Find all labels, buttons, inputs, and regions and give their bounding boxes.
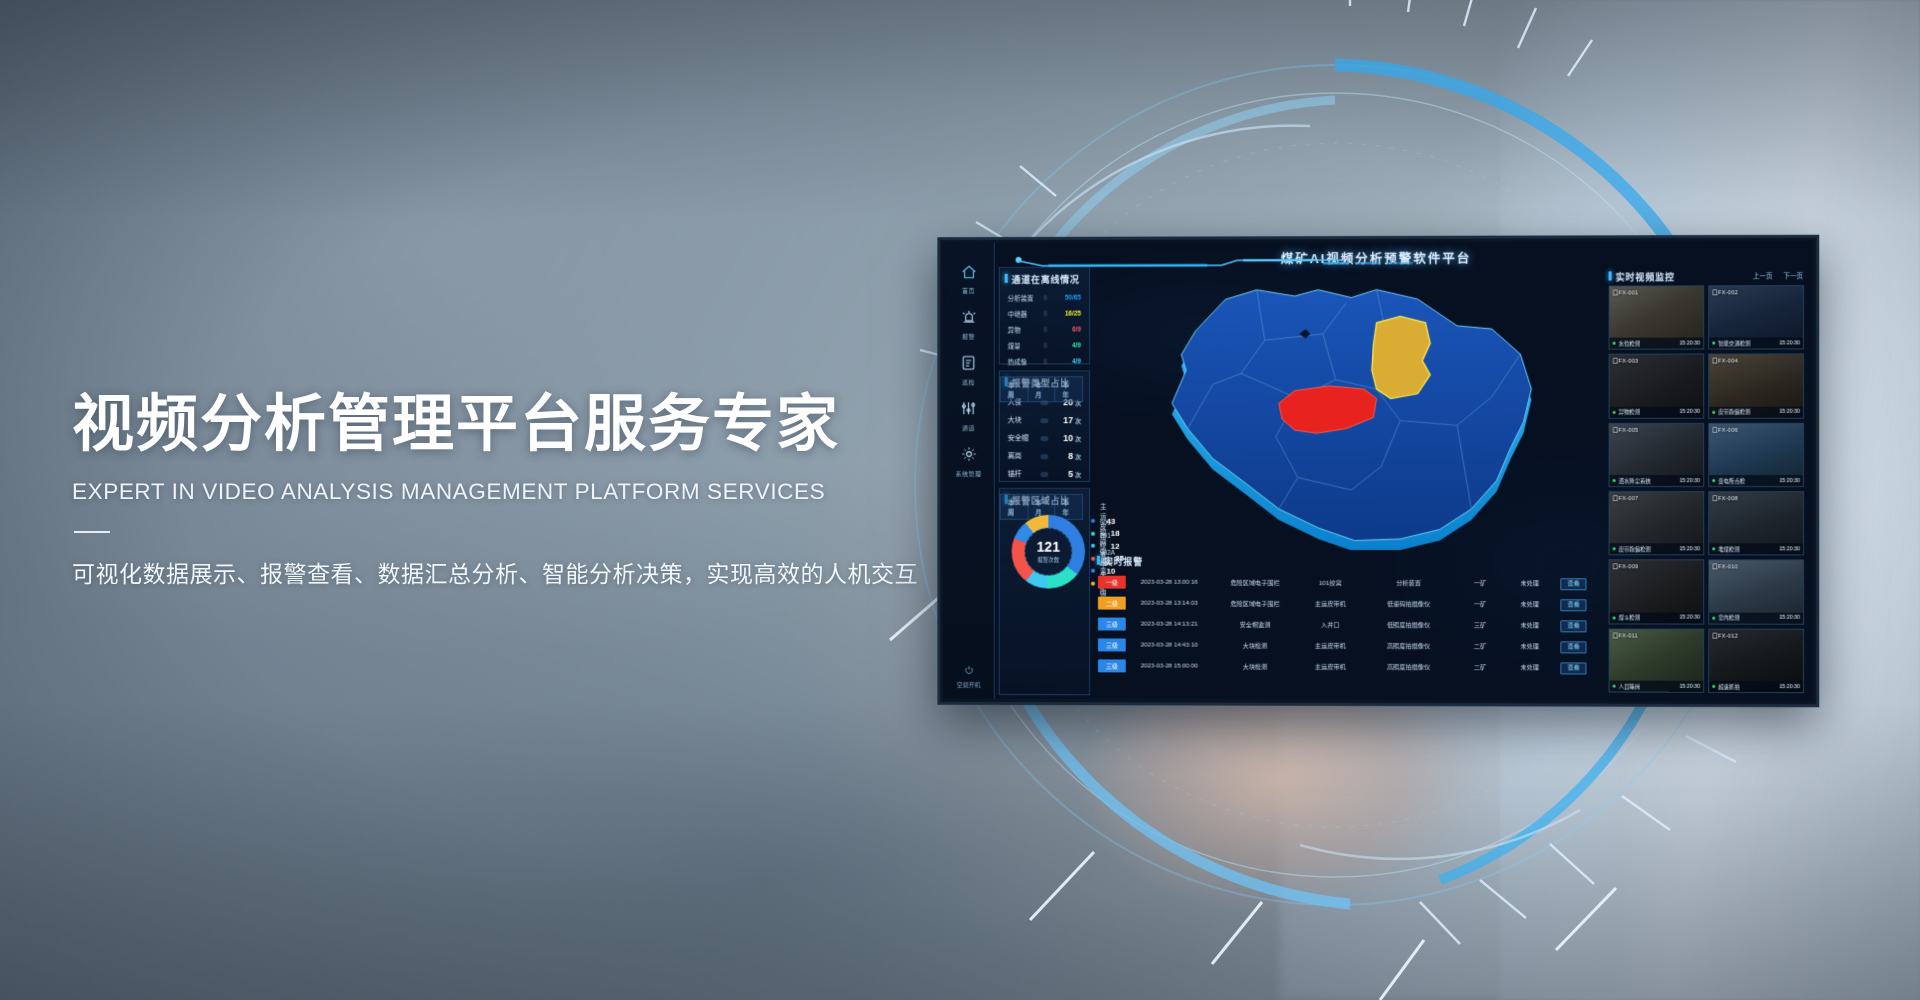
alarm-area-panel: 报警区域占比 本周 本月 本年 121 报警次数 主运皮带43901绞网1820… bbox=[999, 488, 1090, 695]
channel-value: 4/9 bbox=[1053, 342, 1081, 349]
alarm-type-panel: 报警类型占比 本周 本月 本年 入侵20次大块17次安全帽10次离岗8次锚杆5次 bbox=[999, 370, 1090, 482]
video-grid: 口FX-001水位检测15:20:30口FX-002智能交通检测15:20:30… bbox=[1609, 285, 1804, 693]
sidebar-label-channel: 通道 bbox=[943, 423, 994, 432]
alarm-type-label: 安全帽 bbox=[1008, 433, 1034, 443]
video-id: 口FX-001 bbox=[1613, 288, 1639, 296]
alarm-type-tabs[interactable]: 本周 本月 本年 bbox=[1000, 376, 1083, 402]
video-id: 口FX-002 bbox=[1712, 288, 1738, 296]
alarm-state: 未处理 bbox=[1506, 641, 1554, 650]
alarm-time: 2023-03-28 13:00:16 bbox=[1126, 579, 1213, 586]
channel-label: 异物 bbox=[1008, 325, 1038, 335]
hero-divider bbox=[74, 531, 110, 533]
map-svg bbox=[1092, 265, 1600, 550]
status-dot bbox=[1613, 342, 1616, 345]
status-dot bbox=[1712, 616, 1715, 619]
video-name: 皮带跑偏检测 bbox=[1619, 545, 1680, 553]
video-time: 15:20:30 bbox=[1779, 683, 1800, 689]
channel-status-panel: 通道在离线情况 分析装置50/65中继器16/25异物6/9煤量4/9热成像4/… bbox=[999, 267, 1090, 365]
channel-label: 煤量 bbox=[1008, 341, 1038, 351]
alarm-mine: 三矿 bbox=[1454, 620, 1506, 629]
video-id: 口FX-003 bbox=[1613, 357, 1639, 365]
video-name: 人员睡岗 bbox=[1619, 682, 1680, 690]
alarm-type-title: 报警类型占比 本周 本月 本年 bbox=[1000, 371, 1089, 393]
channel-label: 中继器 bbox=[1008, 309, 1038, 319]
alarm-type: 大块检测 bbox=[1213, 641, 1298, 650]
tab-year[interactable]: 本年 bbox=[1055, 376, 1083, 402]
sidebar-footer-label: 空载开机 bbox=[943, 680, 994, 689]
video-id: 口FX-007 bbox=[1613, 494, 1639, 502]
video-id: 口FX-012 bbox=[1712, 631, 1738, 639]
channel-status-row: 分析装置50/65 bbox=[1000, 290, 1089, 306]
status-dot bbox=[1613, 616, 1616, 619]
alarm-time: 2023-03-28 14:43:10 bbox=[1126, 642, 1213, 649]
table-row[interactable]: 二级2023-03-28 13:14:03危险区域电子围栏主运皮带机低速码拍摄像… bbox=[1092, 593, 1600, 615]
status-dot bbox=[1613, 548, 1616, 551]
video-pager: 上一页 下一页 bbox=[1744, 270, 1803, 280]
status-dot bbox=[1613, 410, 1616, 413]
status-dot bbox=[1613, 685, 1616, 688]
video-name: 变电所点检 bbox=[1718, 477, 1779, 485]
table-row[interactable]: 三级2023-03-28 15:00:00大块检测主运皮带机高照度拍摄像仪二矿未… bbox=[1092, 655, 1600, 677]
alarm-device: 低照度拍摄像仪 bbox=[1363, 620, 1454, 629]
alarm-area-donut: 121 报警次数 bbox=[1012, 515, 1085, 589]
alarm-type: 危险区域电子围栏 bbox=[1213, 578, 1298, 587]
view-button[interactable]: 查看 bbox=[1560, 662, 1586, 674]
alarm-area: 101绞窝 bbox=[1298, 578, 1363, 587]
alarm-type-progress bbox=[1040, 418, 1048, 423]
video-tile[interactable]: 口FX-001水位检测15:20:30 bbox=[1609, 285, 1705, 350]
alarm-type-value: 5次 bbox=[1055, 469, 1081, 479]
video-tile[interactable]: 口FX-007皮带跑偏检测15:20:30 bbox=[1609, 491, 1705, 556]
status-dot bbox=[1712, 548, 1715, 551]
sidebar-item-alarm[interactable]: 报警 bbox=[943, 309, 994, 341]
table-row[interactable]: 三级2023-03-28 14:13:21安全帽监测入井口低照度拍摄像仪三矿未处… bbox=[1092, 614, 1600, 636]
video-tile[interactable]: 口FX-010室内检测15:20:30 bbox=[1708, 560, 1804, 625]
alarm-device: 高照度拍摄像仪 bbox=[1363, 662, 1454, 671]
alarm-area-title: 报警区域占比 本周 本月 本年 bbox=[1000, 489, 1089, 511]
video-tile[interactable]: 口FX-011人员睡岗15:20:30 bbox=[1609, 628, 1705, 693]
status-dot bbox=[1712, 685, 1715, 688]
channel-value: 4/9 bbox=[1053, 358, 1081, 365]
video-tile[interactable]: 口FX-004皮带跑偏检测15:20:30 bbox=[1708, 354, 1804, 419]
sidebar-item-home[interactable]: 首页 bbox=[943, 265, 994, 295]
alarm-type-row: 安全帽10次 bbox=[1000, 429, 1089, 447]
hero-subtitle: EXPERT IN VIDEO ANALYSIS MANAGEMENT PLAT… bbox=[72, 479, 972, 505]
alarm-device: 低速码拍摄像仪 bbox=[1363, 599, 1454, 608]
alarm-type-row: 大块17次 bbox=[1000, 411, 1089, 429]
dashboard-sidebar: 首页 报警 巡检 通道 bbox=[943, 243, 994, 699]
view-button[interactable]: 查看 bbox=[1560, 641, 1586, 653]
channel-value: 50/65 bbox=[1053, 294, 1081, 301]
status-badge: 三级 bbox=[1098, 659, 1126, 672]
alarm-type-rows: 入侵20次大块17次安全帽10次离岗8次锚杆5次 bbox=[1000, 393, 1089, 483]
donut-center-label: 报警次数 bbox=[1037, 556, 1059, 564]
alarm-state: 未处理 bbox=[1506, 599, 1554, 608]
video-id: 口FX-005 bbox=[1613, 426, 1639, 434]
channel-progress bbox=[1043, 327, 1047, 333]
video-id: 口FX-011 bbox=[1613, 631, 1638, 639]
channel-progress bbox=[1043, 358, 1047, 364]
video-name: 水位检测 bbox=[1619, 339, 1680, 347]
channel-icon bbox=[943, 400, 994, 420]
video-time: 15:20:30 bbox=[1679, 615, 1700, 621]
donut-center-value: 121 bbox=[1037, 540, 1060, 554]
video-tile[interactable]: 口FX-003异物检测15:20:30 bbox=[1609, 354, 1705, 419]
alarm-device: 高照度拍摄像仪 bbox=[1363, 641, 1454, 650]
status-badge: 三级 bbox=[1098, 618, 1126, 631]
video-name: 洒水降尘系统 bbox=[1619, 477, 1680, 485]
sidebar-label-alarm: 报警 bbox=[943, 332, 994, 341]
hero-text-block: 视频分析管理平台服务专家 EXPERT IN VIDEO ANALYSIS MA… bbox=[72, 390, 972, 592]
sidebar-label-home: 首页 bbox=[943, 286, 994, 295]
channel-status-row: 热成像4/9 bbox=[1000, 353, 1089, 369]
view-button[interactable]: 查看 bbox=[1560, 578, 1586, 590]
video-time: 15:20:30 bbox=[1779, 409, 1800, 415]
realtime-alarm-title: 实时报警 bbox=[1092, 550, 1600, 573]
alarm-device: 分析装置 bbox=[1363, 578, 1454, 587]
power-icon bbox=[964, 662, 974, 679]
video-name: 超速抓拍 bbox=[1718, 682, 1779, 690]
realtime-alarm-panel: 实时报警 一级2023-03-28 13:00:16危险区域电子围栏101绞窝分… bbox=[1092, 550, 1600, 697]
channel-status-row: 异物6/9 bbox=[1000, 322, 1089, 338]
video-time: 15:20:30 bbox=[1679, 340, 1700, 346]
alarm-area: 主运皮带机 bbox=[1298, 641, 1363, 650]
alarm-type-progress bbox=[1040, 454, 1048, 459]
next-page-button[interactable]: 下一页 bbox=[1783, 273, 1803, 280]
video-time: 15:20:30 bbox=[1679, 683, 1700, 689]
alarm-area: 入井口 bbox=[1298, 620, 1363, 629]
alarm-area: 主运皮带机 bbox=[1298, 662, 1363, 671]
channel-value: 6/9 bbox=[1053, 326, 1081, 333]
channel-status-rows: 分析装置50/65中继器16/25异物6/9煤量4/9热成像4/9 bbox=[1000, 290, 1089, 370]
alarm-mine: 二矿 bbox=[1454, 641, 1506, 650]
alarm-mine: 二矿 bbox=[1454, 662, 1506, 671]
video-id: 口FX-008 bbox=[1712, 494, 1738, 502]
alarm-state: 未处理 bbox=[1506, 578, 1554, 587]
dashboard-screen: 煤矿AI视频分析预警软件平台 首页 报警 bbox=[943, 241, 1813, 701]
alarm-mine: 一矿 bbox=[1454, 578, 1506, 587]
video-time: 15:20:30 bbox=[1779, 546, 1800, 552]
table-row[interactable]: 三级2023-03-28 14:43:10大块检测主运皮带机高照度拍摄像仪二矿未… bbox=[1092, 634, 1600, 656]
status-badge: 三级 bbox=[1098, 638, 1126, 651]
video-time: 15:20:30 bbox=[1679, 546, 1700, 552]
video-time: 15:20:30 bbox=[1679, 409, 1700, 415]
channel-progress bbox=[1043, 295, 1047, 301]
alarm-type-value: 10次 bbox=[1055, 433, 1081, 443]
alarm-type: 大块检测 bbox=[1213, 662, 1298, 671]
video-id: 口FX-009 bbox=[1613, 563, 1639, 571]
tab-week[interactable]: 本周 bbox=[1000, 376, 1027, 402]
sidebar-item-settings[interactable]: 系统管理 bbox=[943, 446, 994, 478]
alarm-time: 2023-03-28 13:14:03 bbox=[1126, 600, 1213, 607]
video-id: 口FX-004 bbox=[1712, 357, 1738, 365]
channel-progress bbox=[1043, 342, 1047, 348]
status-badge: 一级 bbox=[1098, 576, 1126, 589]
video-time: 15:20:30 bbox=[1679, 478, 1700, 484]
channel-value: 16/25 bbox=[1053, 310, 1081, 317]
status-dot bbox=[1712, 479, 1715, 482]
video-time: 15:20:30 bbox=[1779, 615, 1800, 621]
video-name: 智能交通检测 bbox=[1718, 339, 1779, 347]
alarm-type-row: 离岗8次 bbox=[1000, 447, 1089, 465]
channel-status-row: 中继器16/25 bbox=[1000, 306, 1089, 322]
alarm-type-value: 17次 bbox=[1055, 415, 1081, 425]
video-time: 15:20:30 bbox=[1779, 478, 1800, 484]
video-name: 煤斗检测 bbox=[1619, 614, 1680, 622]
video-tile[interactable]: 口FX-005洒水降尘系统15:20:30 bbox=[1609, 422, 1705, 487]
dashboard-monitor: 煤矿AI视频分析预警软件平台 首页 报警 bbox=[937, 235, 1819, 707]
alarm-mine: 一矿 bbox=[1454, 599, 1506, 608]
settings-icon bbox=[943, 446, 994, 466]
alarm-time: 2023-03-28 14:13:21 bbox=[1126, 621, 1213, 628]
status-dot bbox=[1712, 410, 1715, 413]
donut-center: 121 报警次数 bbox=[1025, 528, 1073, 576]
video-time: 15:20:30 bbox=[1779, 340, 1800, 346]
table-row[interactable]: 一级2023-03-28 13:00:16危险区域电子围栏101绞窝分析装置一矿… bbox=[1092, 572, 1600, 594]
channel-label: 热成像 bbox=[1008, 356, 1038, 366]
status-badge: 二级 bbox=[1098, 597, 1126, 610]
video-name: 堆煤检测 bbox=[1718, 545, 1779, 553]
video-tile[interactable]: 口FX-012超速抓拍15:20:30 bbox=[1708, 628, 1804, 693]
alarm-icon bbox=[943, 309, 994, 329]
channel-progress bbox=[1043, 311, 1047, 317]
sidebar-label-inspection: 巡检 bbox=[943, 377, 994, 386]
alarm-type-label: 离岗 bbox=[1008, 451, 1034, 461]
tab-month[interactable]: 本月 bbox=[1027, 376, 1054, 402]
alarm-type-label: 锚杆 bbox=[1008, 469, 1034, 479]
video-tile[interactable]: 口FX-008堆煤检测15:20:30 bbox=[1708, 491, 1804, 556]
channel-status-row: 煤量4/9 bbox=[1000, 337, 1089, 353]
video-name: 异物检测 bbox=[1619, 408, 1680, 416]
realtime-alarm-rows: 一级2023-03-28 13:00:16危险区域电子围栏101绞窝分析装置一矿… bbox=[1092, 572, 1600, 678]
sidebar-label-settings: 系统管理 bbox=[943, 469, 994, 478]
video-name: 皮带跑偏检测 bbox=[1718, 408, 1779, 416]
alarm-type-progress bbox=[1040, 436, 1048, 441]
home-icon bbox=[943, 265, 994, 283]
video-tile[interactable]: 口FX-002智能交通检测15:20:30 bbox=[1708, 285, 1804, 350]
inspection-icon bbox=[943, 355, 994, 375]
alarm-area: 主运皮带机 bbox=[1298, 599, 1363, 608]
channel-status-title: 通道在离线情况 bbox=[1000, 268, 1089, 290]
alarm-type-progress bbox=[1040, 471, 1048, 476]
status-dot bbox=[1613, 479, 1616, 482]
alarm-type-label: 大块 bbox=[1008, 415, 1034, 425]
video-name: 室内检测 bbox=[1718, 614, 1779, 622]
view-button[interactable]: 查看 bbox=[1560, 620, 1586, 632]
channel-label: 分析装置 bbox=[1008, 293, 1038, 303]
video-monitor-panel: 实时视频监控 上一页 下一页 口FX-001水位检测15:20:30口FX-00… bbox=[1604, 265, 1810, 697]
alarm-state: 未处理 bbox=[1506, 662, 1554, 671]
prev-page-button[interactable]: 上一页 bbox=[1753, 273, 1773, 280]
page-title: 视频分析管理平台服务专家 bbox=[72, 390, 972, 459]
hero-description: 可视化数据展示、报警查看、数据汇总分析、智能分析决策，实现高效的人机交互 bbox=[72, 557, 972, 592]
video-tile[interactable]: 口FX-006变电所点检15:20:30 bbox=[1708, 422, 1804, 487]
alarm-type-value: 8次 bbox=[1055, 451, 1081, 461]
alarm-type-row: 锚杆5次 bbox=[1000, 465, 1089, 483]
sidebar-item-inspection[interactable]: 巡检 bbox=[943, 355, 994, 387]
view-button[interactable]: 查看 bbox=[1560, 599, 1586, 611]
status-dot bbox=[1712, 342, 1715, 345]
alarm-state: 未处理 bbox=[1506, 620, 1554, 629]
video-tile[interactable]: 口FX-009煤斗检测15:20:30 bbox=[1609, 560, 1705, 625]
alarm-time: 2023-03-28 15:00:00 bbox=[1126, 662, 1213, 669]
video-id: 口FX-006 bbox=[1712, 425, 1738, 433]
sidebar-footer[interactable]: 空载开机 bbox=[943, 662, 994, 689]
alarm-type: 危险区域电子围栏 bbox=[1213, 599, 1298, 608]
alarm-type: 安全帽监测 bbox=[1213, 620, 1298, 629]
video-id: 口FX-010 bbox=[1712, 563, 1738, 571]
sidebar-item-channel[interactable]: 通道 bbox=[943, 400, 994, 432]
mine-map[interactable] bbox=[1092, 265, 1600, 550]
